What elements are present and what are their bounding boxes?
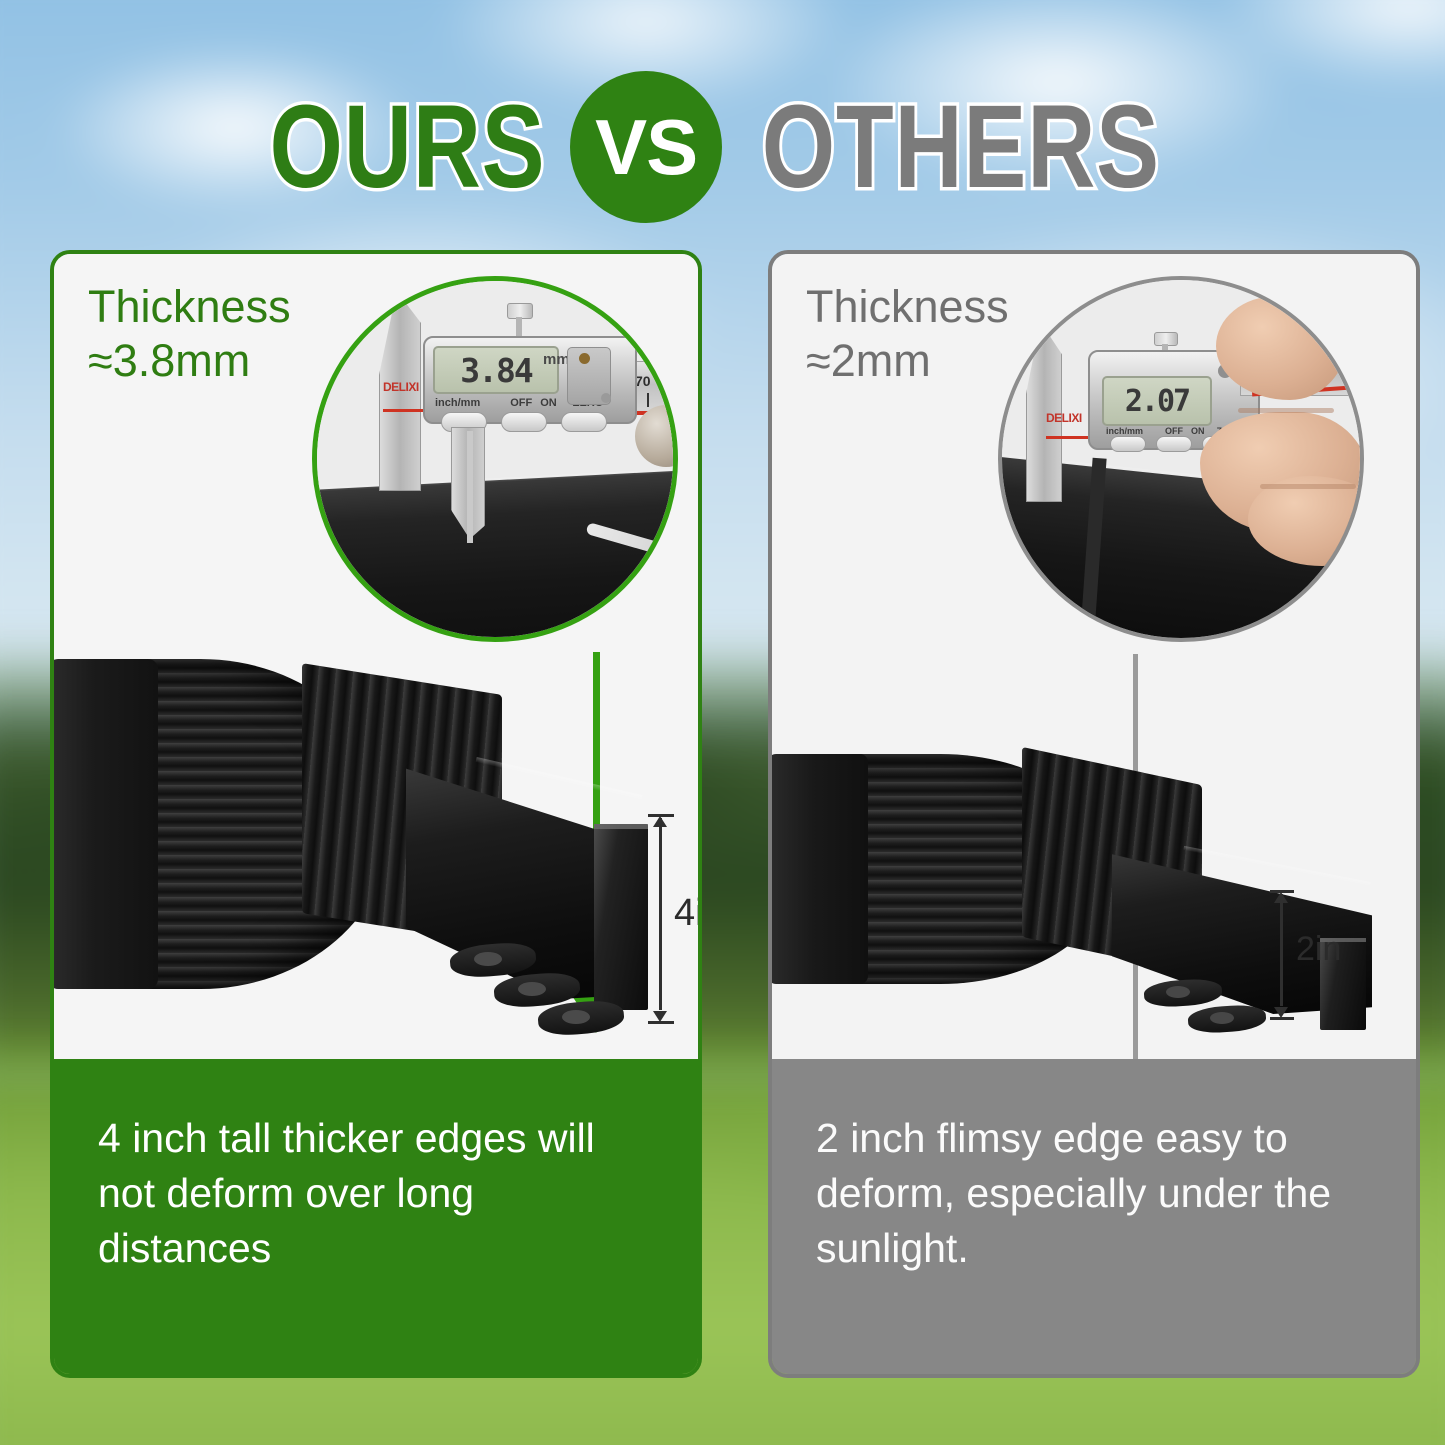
- panel-others-footer: 2 inch flimsy edge easy to deform, espec…: [772, 1059, 1416, 1374]
- caliper-photo-ours: DELIXI 70 3.84 mm: [317, 281, 673, 637]
- panel-ours-body: Thickness ≈3.8mm DELIXI 70: [54, 254, 698, 1059]
- caliper-reading-ours: 3.84: [460, 351, 531, 390]
- dimension-label-others: 2in: [1296, 930, 1341, 969]
- caliper-inset-others: DELIXI 2.07 inch/mm OFF ON ZERO: [998, 276, 1364, 642]
- comparison-panels: Thickness ≈3.8mm DELIXI 70: [0, 250, 1445, 1380]
- caliper-scale-tick-ours: 70: [635, 373, 651, 389]
- footer-text-ours: 4 inch tall thicker edges will not defor…: [98, 1111, 654, 1276]
- footer-text-others: 2 inch flimsy edge easy to deform, espec…: [816, 1111, 1372, 1276]
- vs-label: VS: [595, 108, 697, 186]
- header-ours-label: OURS: [270, 88, 546, 206]
- caliper-button-off-others: [1110, 436, 1146, 452]
- caliper-unit-ours: mm: [543, 351, 570, 368]
- dimension-ours: 4in: [650, 814, 698, 1024]
- panel-ours-footer: 4 inch tall thicker edges will not defor…: [54, 1059, 698, 1374]
- caliper-mode-label-others: inch/mm: [1106, 426, 1143, 436]
- comparison-header: OURS VS OTHERS: [0, 62, 1445, 232]
- thickness-label-ours: Thickness ≈3.8mm: [88, 280, 291, 388]
- product-roll-ours: [54, 644, 698, 1059]
- caliper-btn-on-others: ON: [1191, 426, 1205, 436]
- caliper-btn-off-ours: OFF: [510, 397, 532, 409]
- caliper-brand-others: DELIXI: [1046, 412, 1082, 425]
- caliper-btn-on-ours: ON: [540, 397, 557, 409]
- caliper-button-on-others: [1156, 436, 1192, 452]
- panel-others: Thickness ≈2mm DELIXI: [768, 250, 1420, 1378]
- caliper-reading-others: 2.07: [1125, 384, 1189, 419]
- caliper-brand-ours: DELIXI: [383, 381, 419, 394]
- vs-badge: VS: [570, 71, 722, 223]
- caliper-photo-others: DELIXI 2.07 inch/mm OFF ON ZERO: [1002, 280, 1360, 638]
- caliper-mode-label-ours: inch/mm: [435, 397, 480, 409]
- dimension-others: 2in: [1272, 890, 1328, 1020]
- thickness-label-others: Thickness ≈2mm: [806, 280, 1009, 388]
- caliper-button-zero-ours: [561, 412, 607, 432]
- caliper-button-on-ours: [501, 412, 547, 432]
- caliper-inset-ours: DELIXI 70 3.84 mm: [312, 276, 678, 642]
- caliper-btn-off-others: OFF: [1165, 426, 1183, 436]
- header-others-label: OTHERS: [762, 88, 1160, 206]
- dimension-label-ours: 4in: [674, 892, 698, 935]
- panel-others-body: Thickness ≈2mm DELIXI: [772, 254, 1416, 1059]
- panel-ours: Thickness ≈3.8mm DELIXI 70: [50, 250, 702, 1378]
